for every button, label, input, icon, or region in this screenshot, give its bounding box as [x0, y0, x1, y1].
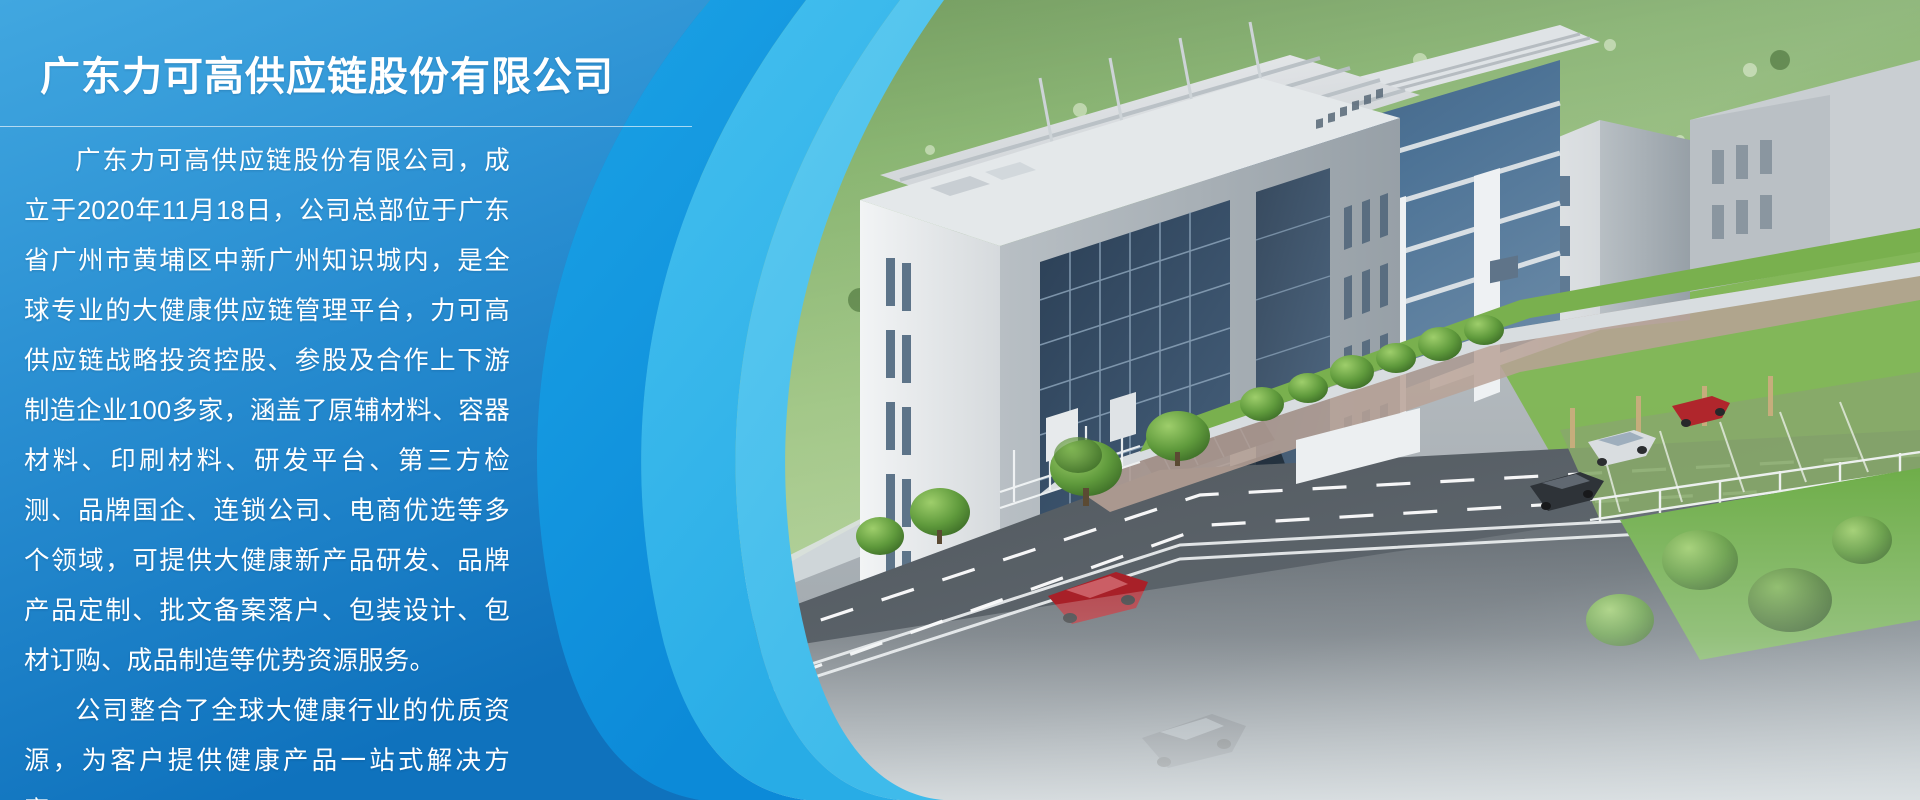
- text-panel: 广东力可高供应链股份有限公司 广东力可高供应链股份有限公司，成立于2020年11…: [0, 0, 700, 800]
- company-description: 广东力可高供应链股份有限公司，成立于2020年11月18日，公司总部位于广东省广…: [24, 136, 510, 800]
- title-divider: [0, 126, 692, 127]
- paragraph-2: 公司整合了全球大健康行业的优质资源，为客户提供健康产品一站式解决方案。: [24, 686, 510, 800]
- paragraph-1: 广东力可高供应链股份有限公司，成立于2020年11月18日，公司总部位于广东省广…: [24, 136, 510, 686]
- page-title: 广东力可高供应链股份有限公司: [40, 54, 614, 100]
- company-profile-banner: 广东力可高供应链股份有限公司 广东力可高供应链股份有限公司，成立于2020年11…: [0, 0, 1920, 800]
